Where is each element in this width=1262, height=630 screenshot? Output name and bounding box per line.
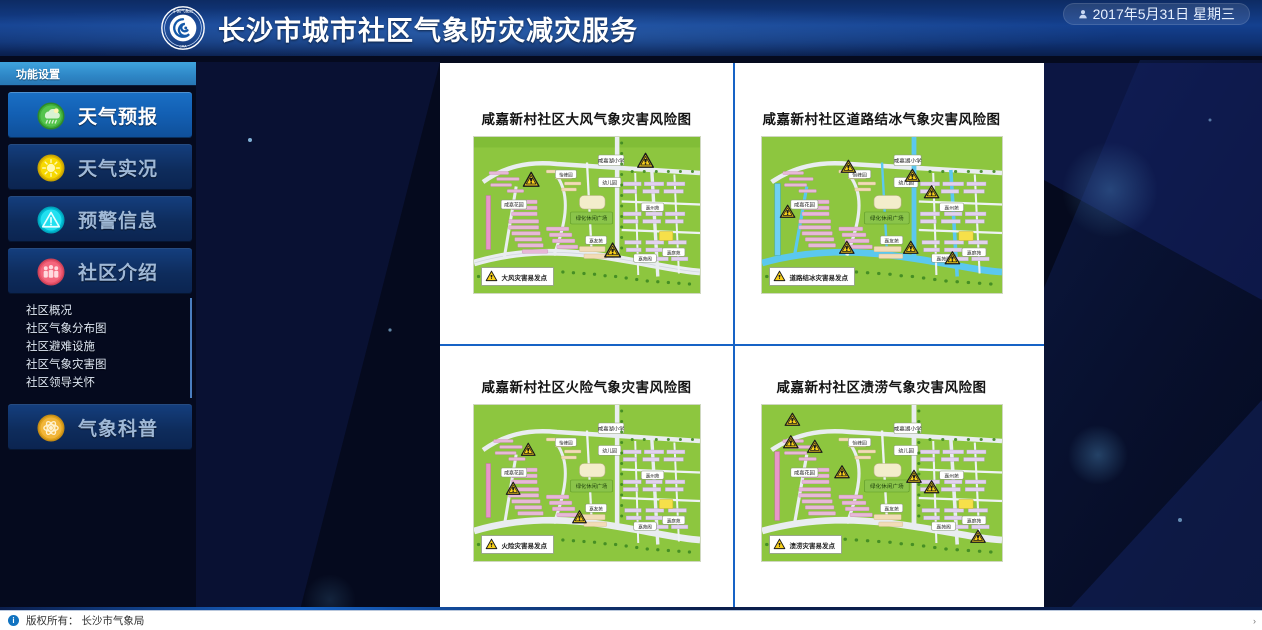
card-title: 咸嘉新村社区渍涝气象灾害风险图 (735, 376, 1028, 396)
brand-block: 中国气象局 CMA 长沙市城市社区气象防灾减灾服务 (160, 2, 638, 54)
hazard-triangle-icon (485, 538, 498, 551)
sidebar-item-science-popularization[interactable]: 气象科普 (8, 404, 192, 450)
sidebar-item-label: 社区介绍 (78, 258, 158, 285)
weather-bureau-logo-icon: 中国气象局 CMA (160, 5, 206, 51)
community-map[interactable]: 绿化休闲广场 咸嘉湖小学 幼儿园 咸嘉花园 怡峰园 嘉友苑 嘉州苑 (473, 136, 701, 294)
submenu-item-shelters[interactable]: 社区避难设施 (8, 338, 190, 356)
svg-text:咸嘉花园: 咸嘉花园 (794, 470, 815, 477)
sidebar-item-alerts[interactable]: 预警信息 (8, 196, 192, 242)
sidebar-item-label: 天气预报 (78, 102, 158, 129)
map-legend: 道路结冰灾害易发点 (769, 267, 856, 286)
svg-text:CMA: CMA (179, 44, 187, 48)
date-display: 2017年5月31日 星期三 (1063, 3, 1250, 25)
card-title: 咸嘉新村社区大风气象灾害风险图 (440, 108, 733, 128)
svg-text:咸嘉花园: 咸嘉花园 (504, 470, 524, 477)
sidebar-item-weather-live[interactable]: 天气实况 (8, 144, 192, 190)
hazard-map-card-waterlog: 咸嘉新村社区渍涝气象灾害风险图 (735, 346, 1028, 610)
user-icon (1078, 9, 1088, 19)
svg-text:幼儿园: 幼儿园 (898, 448, 914, 455)
sidebar-panel-header: 功能设置 (0, 62, 196, 86)
sun-icon (36, 153, 66, 183)
sidebar-submenu: 社区概况 社区气象分布图 社区避难设施 社区气象灾害图 社区领导关怀 (8, 298, 192, 398)
map-legend: 大风灾害易发点 (481, 267, 555, 286)
svg-text:幼儿园: 幼儿园 (602, 448, 617, 455)
app-header: 中国气象局 CMA 长沙市城市社区气象防灾减灾服务 2017年5月31日 星期三 (0, 0, 1262, 56)
sidebar-item-label: 气象科普 (78, 414, 158, 441)
chevron-right-icon[interactable]: › (1253, 616, 1256, 626)
hazard-map-card-wind: 咸嘉新村社区大风气象灾害风险图 (440, 63, 733, 344)
legend-label: 渍涝灾害易发点 (790, 540, 836, 550)
hazard-triangle-icon (773, 538, 786, 551)
warning-triangle-icon (36, 205, 66, 235)
svg-text:咸嘉花园: 咸嘉花园 (504, 202, 524, 209)
map-legend: 火险灾害易发点 (481, 535, 555, 554)
sidebar-item-label: 预警信息 (78, 206, 158, 233)
community-map[interactable]: 绿化休闲广场 咸嘉湖小学 幼儿园 咸嘉花园 怡峰园 嘉友苑 嘉州苑 (761, 404, 1003, 562)
legend-label: 大风灾害易发点 (502, 272, 548, 282)
svg-text:咸嘉花园: 咸嘉花园 (794, 202, 815, 209)
submenu-item-hazard-map[interactable]: 社区气象灾害图 (8, 356, 190, 374)
footer: i 版权所有： 长沙市气象局 › (0, 610, 1262, 630)
map-legend: 渍涝灾害易发点 (769, 535, 843, 554)
community-people-icon (36, 257, 66, 287)
submenu-item-weather-map[interactable]: 社区气象分布图 (8, 320, 190, 338)
submenu-item-leader-care[interactable]: 社区领导关怀 (8, 374, 190, 392)
submenu-item-overview[interactable]: 社区概况 (8, 302, 190, 320)
sidebar: 功能设置 天气预报 (0, 62, 196, 502)
page-title: 长沙市城市社区气象防灾减灾服务 (218, 9, 638, 48)
content-panel: 咸嘉新村社区大风气象灾害风险图 (440, 63, 1044, 610)
rain-cloud-icon (36, 101, 66, 131)
hazard-triangle-icon (773, 270, 786, 283)
card-title: 咸嘉新村社区道路结冰气象灾害风险图 (735, 108, 1028, 128)
community-map[interactable]: 绿化休闲广场 咸嘉湖小学 幼儿园 咸嘉花园 怡峰园 嘉友苑 嘉州苑 (761, 136, 1003, 294)
sidebar-item-label: 天气实况 (78, 154, 158, 181)
copyright-text: 版权所有： 长沙市气象局 (26, 613, 144, 628)
community-map[interactable]: 绿化休闲广场 咸嘉湖小学 幼儿园 咸嘉花园 怡峰园 嘉友苑 嘉州苑 (473, 404, 701, 562)
info-icon: i (8, 615, 19, 626)
sidebar-item-community-intro[interactable]: 社区介绍 (8, 248, 192, 294)
card-title: 咸嘉新村社区火险气象灾害风险图 (440, 376, 733, 396)
svg-text:中国气象局: 中国气象局 (173, 7, 194, 13)
app-root: 中国气象局 CMA 长沙市城市社区气象防灾减灾服务 2017年5月31日 星期三… (0, 0, 1262, 630)
hazard-map-card-fire: 咸嘉新村社区火险气象灾害风险图 (440, 346, 733, 610)
legend-label: 道路结冰灾害易发点 (790, 272, 849, 282)
legend-label: 火险灾害易发点 (502, 540, 548, 550)
current-date: 2017年5月31日 星期三 (1093, 4, 1235, 24)
hazard-triangle-icon (485, 270, 498, 283)
sidebar-item-weather-forecast[interactable]: 天气预报 (8, 92, 192, 138)
atom-icon (36, 413, 66, 443)
hazard-map-card-road-ice: 咸嘉新村社区道路结冰气象灾害风险图 (735, 63, 1028, 344)
svg-text:幼儿园: 幼儿园 (602, 180, 617, 187)
sidebar-panel-header-label: 功能设置 (16, 66, 60, 82)
